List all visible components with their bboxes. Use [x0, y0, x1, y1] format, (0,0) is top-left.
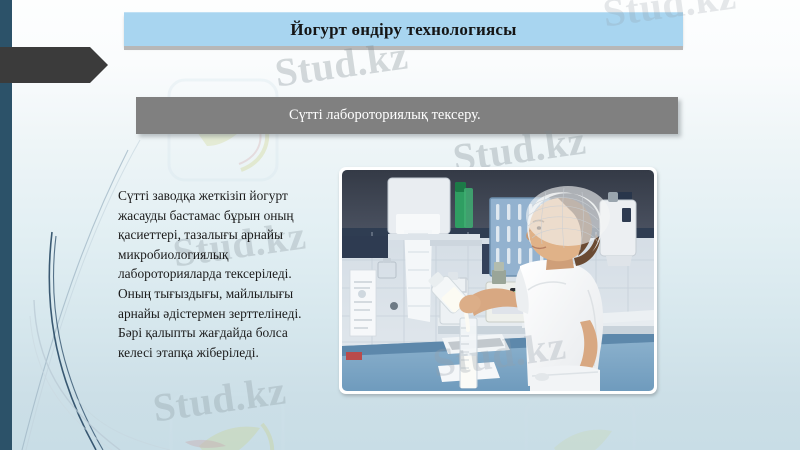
slide-title-band: Йогурт өндіру технологиясы — [124, 12, 683, 46]
subtitle-band: Сүтті лабороториялық тексеру. — [136, 97, 678, 134]
slide-title: Йогурт өндіру технологиясы — [290, 20, 516, 40]
watermark-bird-logo — [520, 392, 640, 450]
slide-canvas: Йогурт өндіру технологиясы Stud.kz Stud.… — [0, 0, 800, 450]
arrow-shape — [0, 47, 108, 83]
subtitle-text: Сүтті лабороториялық тексеру. — [289, 107, 481, 124]
lab-photo — [342, 170, 654, 391]
watermark-text: Stud.kz — [150, 366, 289, 431]
body-paragraph: Сүтті заводқа жеткізіп йогурт жасауды ба… — [118, 186, 318, 362]
watermark-bird-logo — [165, 388, 290, 450]
lab-photo-illustration — [342, 170, 654, 391]
photo-frame — [339, 167, 657, 394]
